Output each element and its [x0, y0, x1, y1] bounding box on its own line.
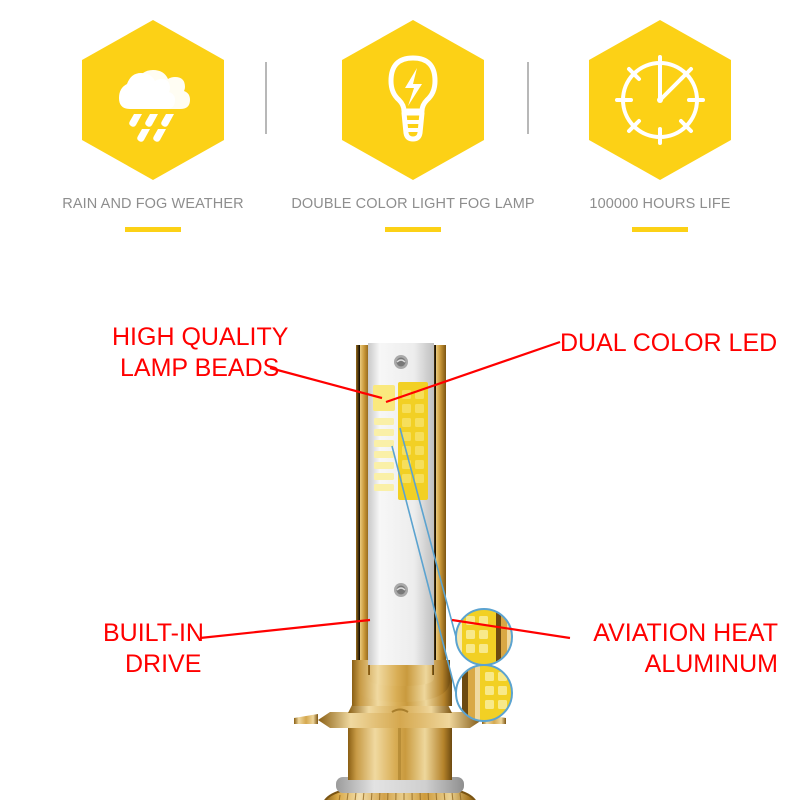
callout-line-1: AVIATION HEAT [593, 618, 778, 649]
hexagon-badge-rain [82, 20, 224, 180]
leader-built-in-drive [200, 620, 370, 638]
lightbulb-icon [342, 20, 484, 180]
callout-line-2: ALUMINUM [593, 649, 778, 680]
feature-underline [632, 227, 688, 232]
hexagon-badge-clock [589, 20, 731, 180]
leader-dual-color [386, 342, 560, 402]
callout-built-in-drive: BUILT-IN DRIVE [103, 618, 204, 680]
callout-dual-color-led: DUAL COLOR LED [560, 328, 777, 359]
feature-label: DOUBLE COLOR LIGHT FOG LAMP [288, 196, 538, 212]
callout-line-1: BUILT-IN [103, 618, 204, 649]
clock-icon [589, 20, 731, 180]
feature-band: RAIN AND FOG WEATHER DOUBLE COLOR LIGHT … [0, 0, 800, 250]
feature-label: RAIN AND FOG WEATHER [28, 196, 278, 212]
feature-item-double-color: DOUBLE COLOR LIGHT FOG LAMP [288, 0, 538, 250]
leader-aviation-heat [452, 620, 570, 638]
feature-divider-1 [265, 62, 267, 134]
feature-divider-2 [527, 62, 529, 134]
callout-aviation-heat-aluminum: AVIATION HEAT ALUMINUM [593, 618, 778, 680]
callout-line-1: HIGH QUALITY [112, 322, 288, 353]
feature-label: 100000 HOURS LIFE [535, 196, 785, 212]
callout-line-2: DRIVE [103, 649, 204, 680]
feature-item-rain-and-fog: RAIN AND FOG WEATHER [28, 0, 278, 250]
rain-cloud-icon [82, 20, 224, 180]
feature-underline [385, 227, 441, 232]
product-illustration-stage: HIGH QUALITY LAMP BEADS DUAL COLOR LED B… [0, 250, 800, 800]
callout-high-quality-lamp-beads: HIGH QUALITY LAMP BEADS [112, 322, 288, 384]
feature-underline [125, 227, 181, 232]
hexagon-badge-lightbulb [342, 20, 484, 180]
callout-line-2: LAMP BEADS [112, 353, 288, 384]
feature-item-hours-life: 100000 HOURS LIFE [535, 0, 785, 250]
callout-line-1: DUAL COLOR LED [560, 328, 777, 359]
